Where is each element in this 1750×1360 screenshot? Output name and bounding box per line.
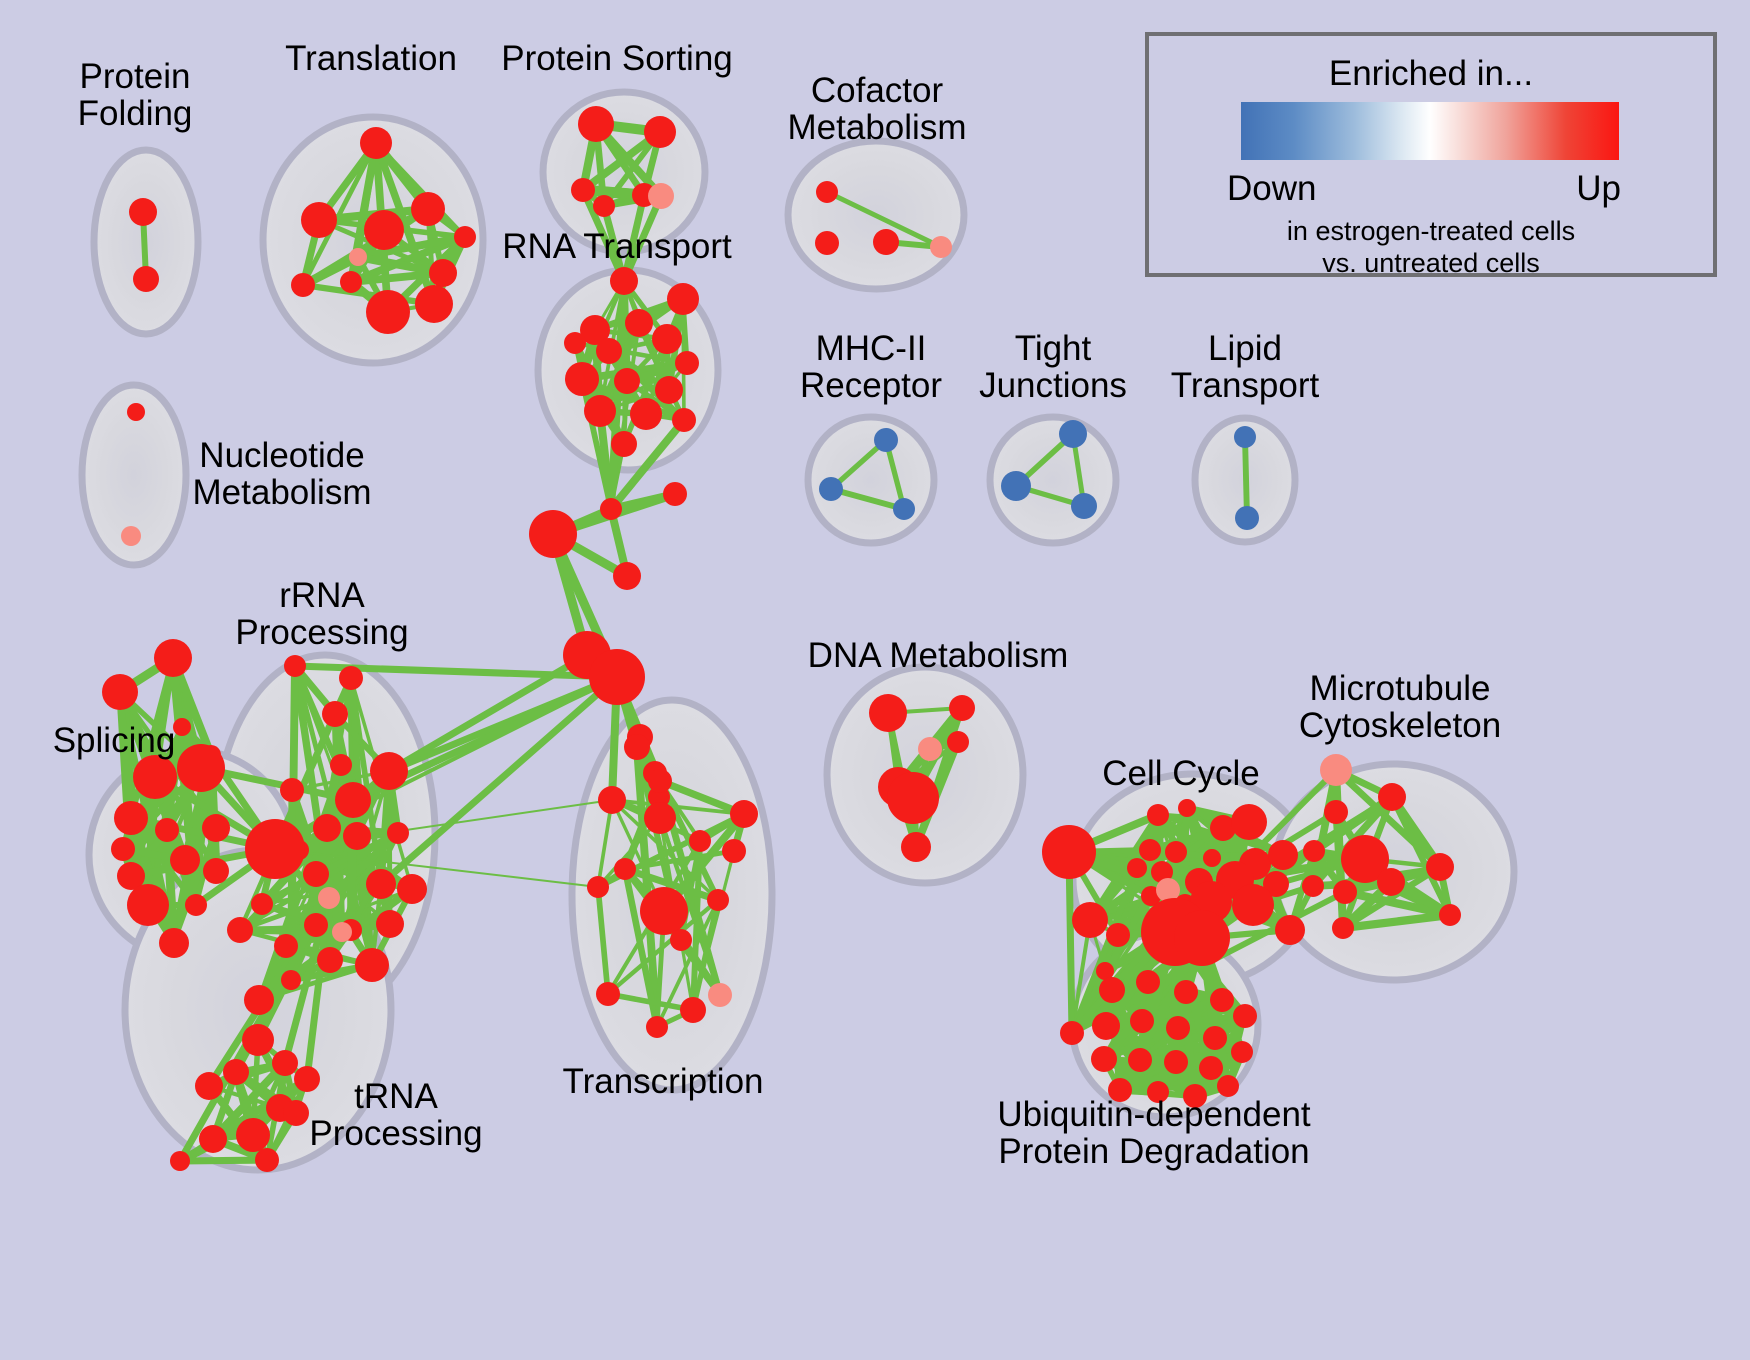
graph-node <box>280 778 304 802</box>
graph-node <box>1378 783 1406 811</box>
graph-node <box>589 649 645 705</box>
graph-node <box>332 922 352 942</box>
graph-node <box>565 362 599 396</box>
cluster-label: Cofactor Metabolism <box>788 72 967 146</box>
graph-node <box>133 755 177 799</box>
graph-node <box>127 884 169 926</box>
graph-node <box>170 845 200 875</box>
graph-node <box>1333 880 1357 904</box>
graph-node <box>675 351 699 375</box>
graph-node <box>195 1072 223 1100</box>
graph-node <box>397 874 427 904</box>
graph-node <box>364 210 404 250</box>
graph-node <box>304 913 328 937</box>
legend-box: Enriched in... Down Up in estrogen-treat… <box>1145 32 1717 277</box>
graph-node <box>730 800 758 828</box>
graph-node <box>244 985 274 1015</box>
graph-node <box>411 192 445 226</box>
graph-node <box>343 822 371 850</box>
graph-node <box>330 754 352 776</box>
graph-node <box>1178 799 1196 817</box>
graph-node <box>596 338 622 364</box>
graph-node <box>114 801 148 835</box>
graph-node <box>177 744 225 792</box>
graph-node <box>598 786 626 814</box>
graph-node <box>355 948 389 982</box>
graph-node <box>1231 1041 1253 1063</box>
graph-node <box>1165 841 1187 863</box>
graph-node <box>1091 1046 1117 1072</box>
graph-node <box>1072 902 1108 938</box>
graph-node <box>154 639 192 677</box>
graph-node <box>1106 923 1130 947</box>
graph-node <box>1060 1021 1084 1045</box>
graph-node <box>1210 988 1234 1012</box>
graph-node <box>529 510 577 558</box>
graph-node <box>429 259 457 287</box>
graph-node <box>901 832 931 862</box>
graph-node <box>1426 853 1454 881</box>
graph-node <box>587 876 609 898</box>
graph-node <box>349 248 367 266</box>
graph-node <box>1231 804 1267 840</box>
graph-node <box>291 273 315 297</box>
graph-node <box>614 368 640 394</box>
graph-node <box>303 861 329 887</box>
graph-node <box>1166 1016 1190 1040</box>
cluster-label: Splicing <box>53 722 176 759</box>
graph-node <box>947 731 969 753</box>
legend-colorbar <box>1241 102 1619 160</box>
graph-node <box>1136 970 1160 994</box>
graph-edge <box>1069 852 1072 1033</box>
graph-node <box>644 802 676 834</box>
network-figure: Protein FoldingTranslationProtein Sortin… <box>0 0 1750 1360</box>
graph-node <box>564 332 586 354</box>
graph-node <box>203 858 229 884</box>
graph-node <box>869 694 907 732</box>
graph-edge <box>1245 437 1247 518</box>
graph-node <box>640 887 688 935</box>
graph-node <box>1127 858 1147 878</box>
graph-node <box>317 947 343 973</box>
graph-node <box>1303 840 1325 862</box>
cluster-label: tRNA Processing <box>309 1078 482 1152</box>
graph-node <box>1234 426 1256 448</box>
graph-node <box>111 837 135 861</box>
graph-node <box>223 1059 249 1085</box>
graph-node <box>689 830 711 852</box>
graph-node <box>1147 804 1169 826</box>
graph-node <box>1174 910 1230 966</box>
graph-node <box>281 970 301 990</box>
graph-node <box>625 309 653 337</box>
graph-node <box>313 814 341 842</box>
graph-node <box>245 819 305 879</box>
graph-node <box>1232 884 1274 926</box>
cluster-label: DNA Metabolism <box>808 637 1069 674</box>
graph-node <box>1439 904 1461 926</box>
graph-node <box>584 395 616 427</box>
graph-node <box>155 818 179 842</box>
graph-node <box>593 195 615 217</box>
graph-node <box>1268 840 1298 870</box>
graph-node <box>274 934 298 958</box>
cluster-label: Microtubule Cytoskeleton <box>1299 670 1501 744</box>
graph-node <box>648 769 672 793</box>
graph-node <box>680 997 706 1023</box>
graph-node <box>415 285 453 323</box>
graph-node <box>873 229 899 255</box>
graph-node <box>1128 1048 1152 1072</box>
cluster-label: Nucleotide Metabolism <box>193 437 372 511</box>
graph-node <box>667 283 699 315</box>
graph-node <box>887 772 939 824</box>
graph-node <box>159 928 189 958</box>
graph-node <box>236 1118 270 1152</box>
graph-node <box>133 266 159 292</box>
graph-node <box>918 737 942 761</box>
graph-node <box>1164 1050 1188 1074</box>
graph-node <box>578 106 614 142</box>
graph-node <box>283 1100 309 1126</box>
graph-node <box>624 734 650 760</box>
cluster-label: Translation <box>285 40 457 77</box>
legend-title: Enriched in... <box>1149 54 1713 94</box>
graph-node <box>874 428 898 452</box>
graph-node <box>1059 420 1087 448</box>
graph-node <box>1203 849 1221 867</box>
graph-node <box>610 267 638 295</box>
graph-node <box>272 1050 298 1076</box>
legend-caption: in estrogen-treated cells vs. untreated … <box>1149 216 1713 280</box>
graph-edge <box>180 1160 267 1161</box>
graph-node <box>707 889 729 911</box>
graph-node <box>646 1016 668 1038</box>
graph-node <box>366 290 410 334</box>
graph-node <box>815 231 839 255</box>
graph-node <box>670 929 692 951</box>
graph-node <box>672 408 696 432</box>
graph-node <box>1235 506 1259 530</box>
graph-node <box>173 718 191 736</box>
graph-node <box>242 1024 274 1056</box>
graph-node <box>1302 875 1324 897</box>
graph-node <box>1233 1004 1257 1028</box>
graph-node <box>1099 977 1125 1003</box>
cluster-label: Cell Cycle <box>1102 755 1260 792</box>
graph-node <box>339 666 363 690</box>
cluster-label: Lipid Transport <box>1171 330 1319 404</box>
graph-node <box>630 398 662 430</box>
graph-node <box>318 887 340 909</box>
graph-node <box>185 894 207 916</box>
graph-node <box>370 752 408 790</box>
cluster-label: Protein Folding <box>78 58 193 132</box>
graph-node <box>1042 825 1096 879</box>
cluster-label: Transcription <box>563 1063 764 1100</box>
graph-node <box>1071 493 1097 519</box>
cluster-label: Ubiquitin-dependent Protein Degradation <box>997 1096 1310 1170</box>
graph-node <box>816 181 838 203</box>
graph-node <box>127 403 145 421</box>
graph-node <box>129 198 157 226</box>
graph-node <box>121 526 141 546</box>
graph-node <box>1275 915 1305 945</box>
graph-node <box>1092 1012 1120 1040</box>
cluster-label: Protein Sorting <box>501 40 733 77</box>
graph-node <box>614 858 636 880</box>
graph-node <box>366 869 396 899</box>
graph-node <box>1332 917 1354 939</box>
graph-node <box>930 236 952 258</box>
graph-node <box>613 562 641 590</box>
graph-node <box>1199 1056 1223 1080</box>
graph-node <box>255 1148 279 1172</box>
graph-node <box>648 183 674 209</box>
graph-node <box>1320 754 1352 786</box>
graph-node <box>1001 471 1031 501</box>
graph-node <box>322 701 348 727</box>
graph-node <box>663 482 687 506</box>
cluster-label: MHC-II Receptor <box>800 330 942 404</box>
graph-node <box>1130 1009 1154 1033</box>
cluster-label: rRNA Processing <box>235 577 408 651</box>
cluster-label: RNA Transport <box>502 228 732 265</box>
legend-low-label: Down <box>1227 169 1316 209</box>
graph-node <box>376 910 404 938</box>
graph-node <box>644 116 676 148</box>
cluster-label: Tight Junctions <box>979 330 1127 404</box>
graph-node <box>611 431 637 457</box>
graph-node <box>199 1125 227 1153</box>
graph-node <box>335 782 371 818</box>
graph-node <box>1139 839 1161 861</box>
graph-node <box>819 477 843 501</box>
graph-node <box>340 271 362 293</box>
graph-node <box>301 202 337 238</box>
graph-node <box>655 376 683 404</box>
graph-node <box>454 226 476 248</box>
graph-node <box>600 498 622 520</box>
graph-node <box>652 324 682 354</box>
graph-node <box>893 498 915 520</box>
graph-node <box>1377 868 1405 896</box>
graph-node <box>596 982 620 1006</box>
graph-node <box>102 674 138 710</box>
graph-node <box>1203 1026 1227 1050</box>
graph-node <box>387 822 409 844</box>
graph-node <box>360 127 392 159</box>
graph-node <box>202 814 230 842</box>
graph-node <box>1174 980 1198 1004</box>
graph-node <box>227 917 253 943</box>
graph-node <box>251 893 273 915</box>
graph-node <box>1217 1075 1239 1097</box>
legend-high-label: Up <box>1576 169 1621 209</box>
graph-edge <box>351 800 353 930</box>
graph-node <box>284 655 306 677</box>
graph-node <box>170 1151 190 1171</box>
graph-node <box>722 839 746 863</box>
graph-node <box>571 178 595 202</box>
graph-node <box>1324 800 1348 824</box>
graph-node <box>949 695 975 721</box>
graph-node <box>708 983 732 1007</box>
